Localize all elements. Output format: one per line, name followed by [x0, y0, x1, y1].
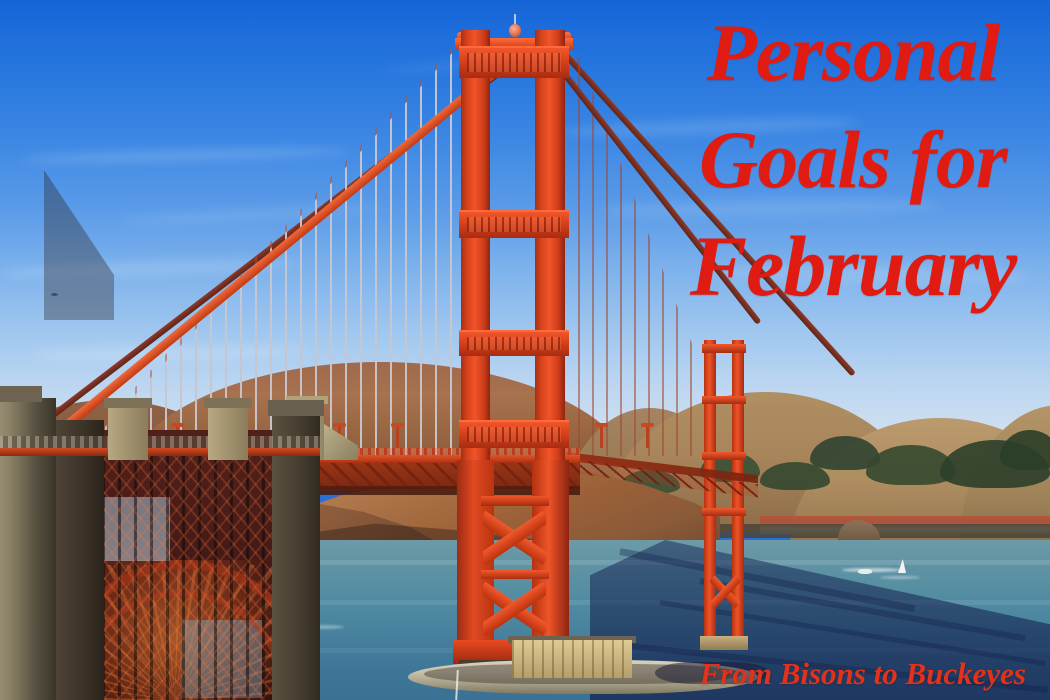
tower-crossbeam-3	[459, 330, 569, 356]
tower-x-bracing-upper	[483, 506, 546, 570]
crossbeam-fluting	[467, 337, 561, 350]
approach-post	[208, 404, 248, 460]
approach-post-cap	[204, 398, 252, 408]
near-tower	[455, 30, 573, 670]
far-tower-crossbeam	[702, 396, 746, 404]
concrete-pier	[512, 640, 632, 678]
lamp-post	[396, 426, 399, 448]
poster-image: Personal Goals for February From Bisons …	[0, 0, 1050, 700]
lamp-post	[646, 426, 649, 448]
crossbeam-fluting	[467, 217, 561, 232]
title-line-1: Personal	[678, 14, 1028, 93]
approach-railing	[0, 448, 320, 456]
crossbeam-fluting	[467, 427, 561, 442]
far-tower-crossbeam	[702, 508, 746, 516]
tower-deck-junction	[481, 496, 549, 506]
lamp-post	[600, 426, 603, 448]
approach-post-cap	[104, 398, 152, 408]
approach-pier-cap	[268, 400, 324, 416]
tower-crossbeam-4	[459, 420, 569, 448]
boat-wake	[880, 576, 920, 579]
approach-concrete-pier-2	[56, 420, 104, 700]
far-tower-crossbeam	[702, 452, 746, 460]
cloud-wisp	[20, 145, 350, 165]
title-line-3: February	[678, 225, 1028, 308]
tower-crossbeam-2	[459, 210, 569, 238]
far-tower-base	[700, 636, 748, 650]
approach-pier-cap	[0, 386, 42, 402]
motorboat	[858, 569, 872, 574]
tower-x-bracing-lower	[483, 578, 546, 640]
far-tower-crossbeam	[702, 344, 746, 353]
far-tower-x-bracing	[710, 568, 740, 616]
approach-post	[108, 404, 148, 460]
boat-wake	[842, 568, 902, 572]
crossbeam-fluting	[467, 53, 561, 72]
blog-watermark: From Bisons to Buckeyes	[700, 656, 1026, 692]
tower-crossbeam-top	[459, 46, 569, 78]
title-line-2: Goals for	[678, 121, 1028, 200]
tower-beacon-light	[509, 24, 521, 37]
title-overlay: Personal Goals for February	[678, 14, 1028, 308]
